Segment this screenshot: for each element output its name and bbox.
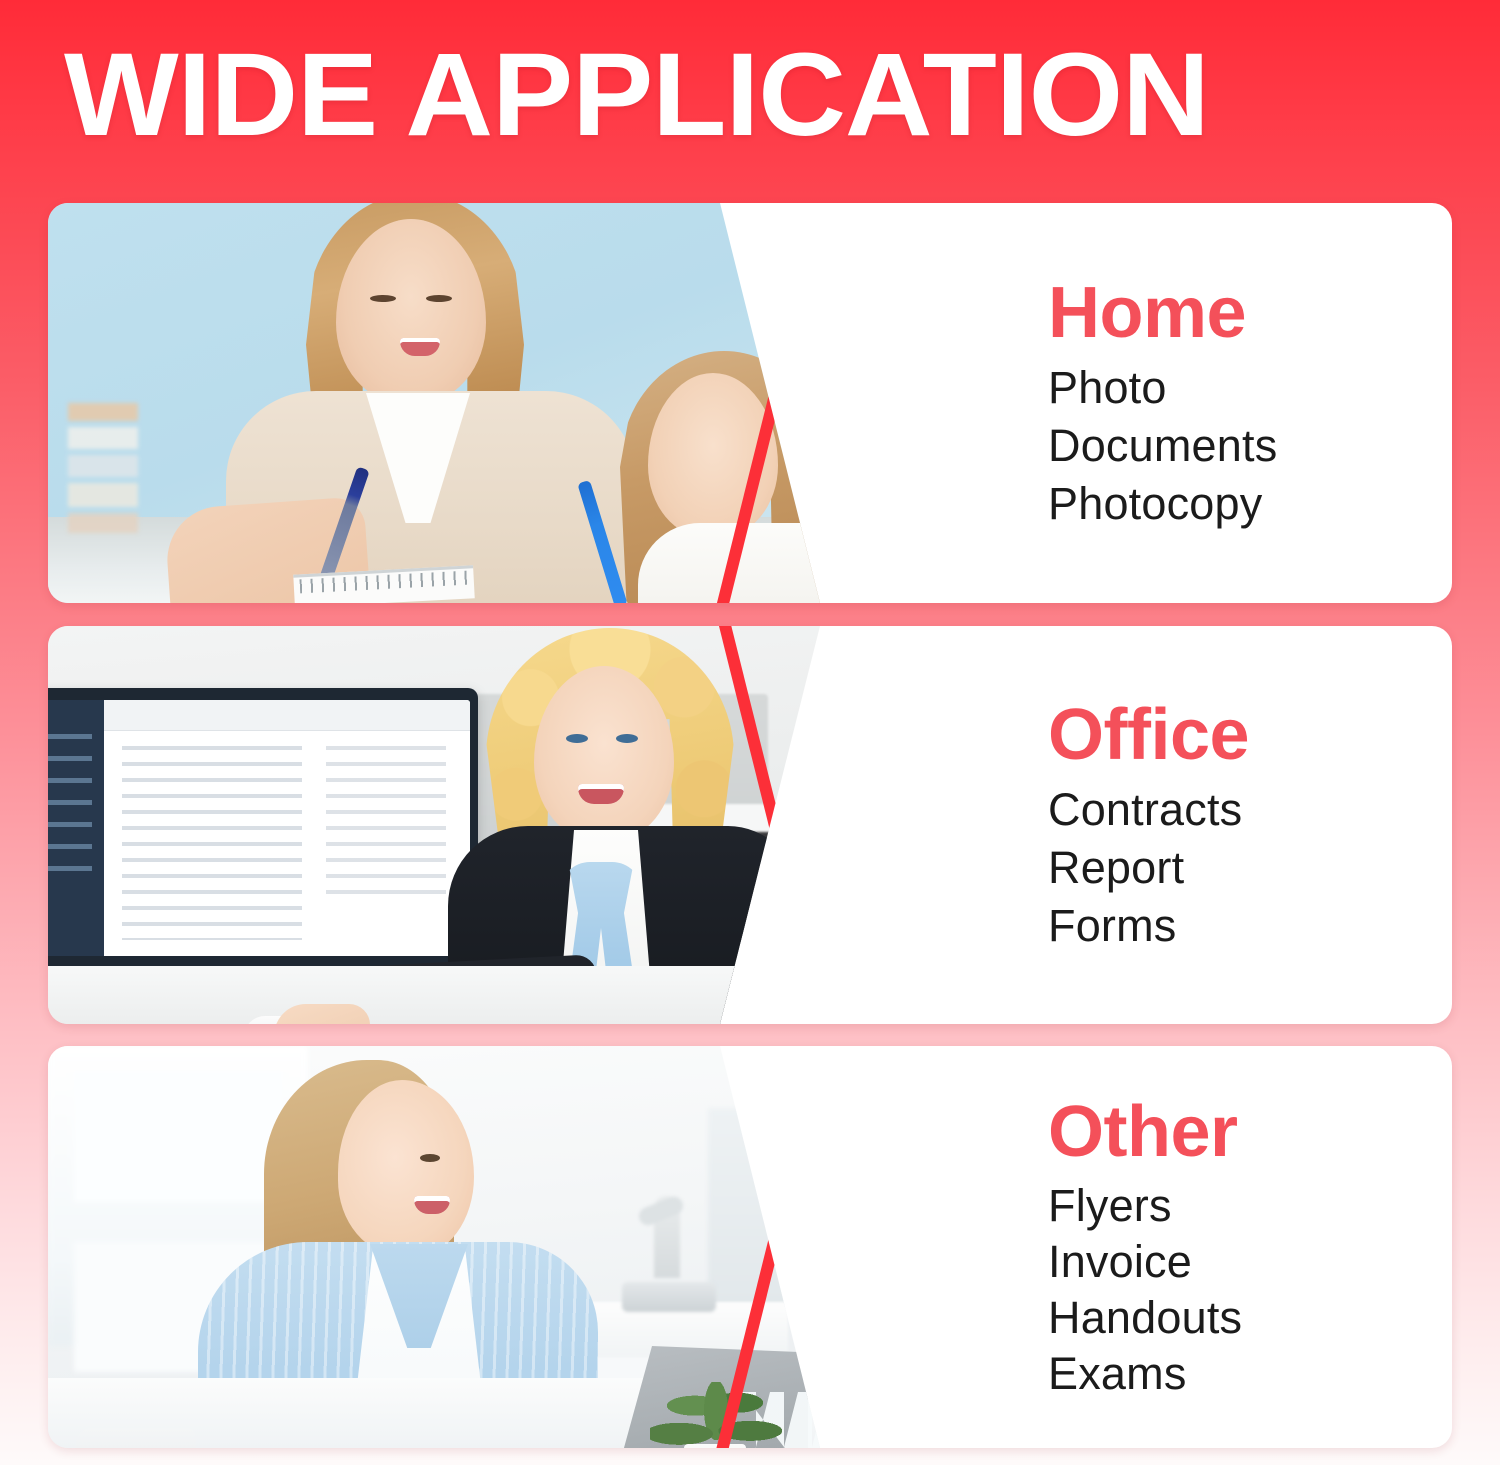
list-item: Flyers: [1048, 1178, 1452, 1234]
application-card-other: Other Flyers Invoice Handouts Exams: [48, 1046, 1452, 1448]
card-item-list-other: Flyers Invoice Handouts Exams: [1048, 1178, 1452, 1402]
card-text-office: Office Contracts Report Forms: [908, 626, 1452, 1024]
card-text-other: Other Flyers Invoice Handouts Exams: [908, 1046, 1452, 1448]
screen-sidebar: [48, 700, 104, 956]
list-item: Report: [1048, 839, 1452, 897]
list-item: Forms: [1048, 897, 1452, 955]
home-scene: [48, 203, 908, 603]
page-title: WIDE APPLICATION: [64, 36, 1209, 154]
screen-toolbar: [104, 700, 470, 731]
girl-top: [638, 523, 868, 603]
plant-pot: [684, 1444, 746, 1448]
microscope-icon: [614, 1196, 724, 1312]
photo-home: [48, 203, 908, 603]
application-card-home: Home Photo Documents Photocopy: [48, 203, 1452, 603]
officewoman-eye-left: [566, 734, 588, 743]
monitor-screen: [48, 700, 470, 956]
title-band: WIDE APPLICATION: [0, 0, 1500, 196]
application-card-office: Office Contracts Report Forms: [48, 626, 1452, 1024]
list-item: Invoice: [1048, 1234, 1452, 1290]
list-item: Exams: [1048, 1346, 1452, 1402]
screen-document-lines: [122, 746, 302, 940]
list-item: Photocopy: [1048, 475, 1452, 533]
photo-office: [48, 626, 908, 1024]
labwoman-eye: [420, 1154, 440, 1162]
card-item-list-office: Contracts Report Forms: [1048, 781, 1452, 955]
card-heading-other: Other: [1048, 1092, 1452, 1172]
screen-document-lines: [326, 746, 446, 896]
list-item: Documents: [1048, 417, 1452, 475]
card-heading-home: Home: [1048, 273, 1452, 353]
officewoman-eye-right: [616, 734, 638, 743]
computer-monitor: [48, 688, 478, 966]
woman-eye-right: [426, 295, 452, 302]
card-item-list-home: Photo Documents Photocopy: [1048, 359, 1452, 533]
office-scene: [48, 626, 908, 1024]
book-stack: [68, 403, 138, 533]
photo-other: [48, 1046, 908, 1448]
woman-eye-left: [370, 295, 396, 302]
office-desk: [48, 966, 908, 1024]
list-item: Handouts: [1048, 1290, 1452, 1346]
card-text-home: Home Photo Documents Photocopy: [908, 203, 1452, 603]
lab-scene: [48, 1046, 908, 1448]
microscope-base: [622, 1282, 716, 1312]
card-heading-office: Office: [1048, 695, 1452, 775]
plant-leaves: [650, 1382, 782, 1448]
officewoman-smile: [578, 784, 624, 804]
wide-application-poster: WIDE APPLICATION: [0, 0, 1500, 1465]
list-item: Contracts: [1048, 781, 1452, 839]
list-item: Photo: [1048, 359, 1452, 417]
lab-chair: [76, 1428, 196, 1448]
